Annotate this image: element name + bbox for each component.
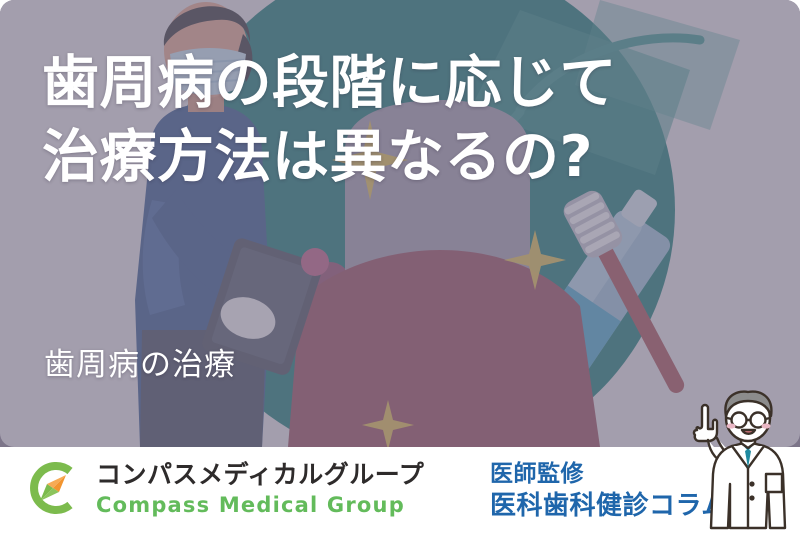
- column-label-line-1: 医師監修: [490, 459, 728, 489]
- column-label-line-2: 医科歯科健診コラム: [490, 490, 728, 523]
- category-label: 歯周病の治療: [44, 344, 236, 386]
- brand-name-en: Compass Medical Group: [96, 492, 424, 518]
- column-label: 医師監修 医科歯科健診コラム: [490, 459, 728, 523]
- article-thumbnail-card: 歯周病の段階に応じて 治療方法は異なるの? 歯周病の治療 コンパスメディカルグル…: [0, 0, 800, 533]
- title-line-1: 歯周病の段階に応じて: [42, 46, 742, 120]
- brand-name-ja: コンパスメディカルグループ: [96, 460, 424, 490]
- compass-logo-icon: [22, 457, 84, 519]
- page-title: 歯周病の段階に応じて 治療方法は異なるの?: [42, 46, 742, 194]
- title-line-2: 治療方法は異なるの?: [42, 120, 742, 194]
- footer-bar: コンパスメディカルグループ Compass Medical Group 医師監修…: [0, 447, 800, 533]
- hero-image: 歯周病の段階に応じて 治療方法は異なるの? 歯周病の治療: [0, 0, 800, 447]
- brand-lockup[interactable]: コンパスメディカルグループ Compass Medical Group: [22, 457, 424, 519]
- brand-text: コンパスメディカルグループ Compass Medical Group: [96, 458, 424, 518]
